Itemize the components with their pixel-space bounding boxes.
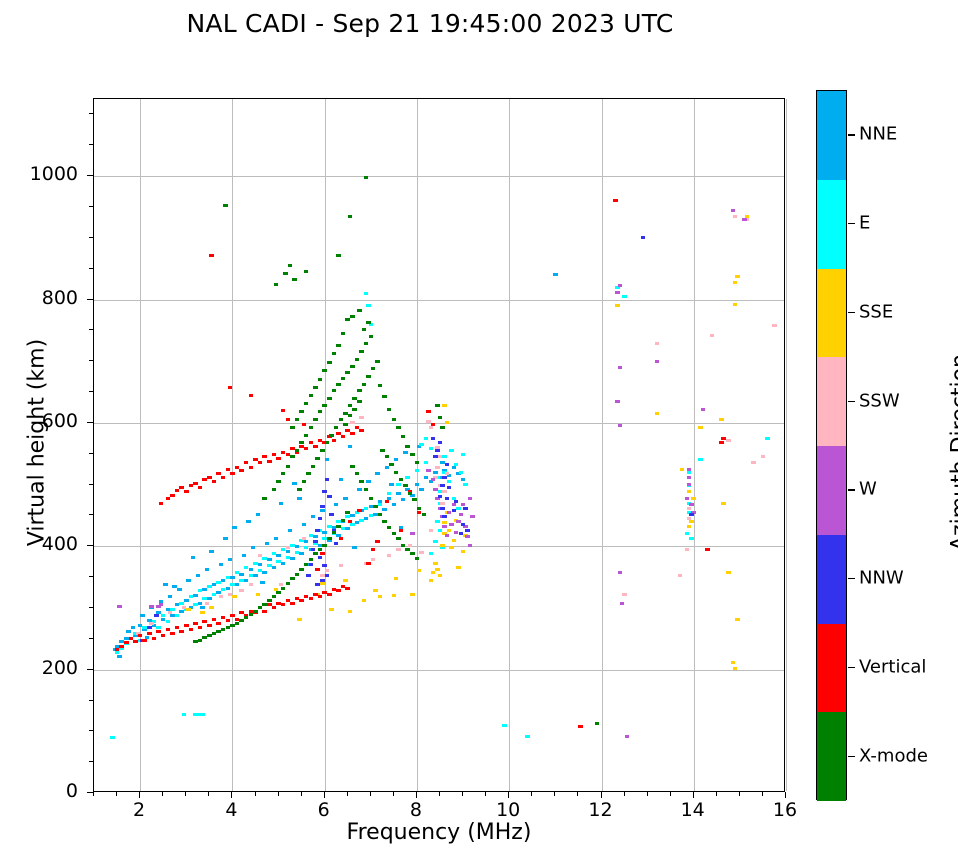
data-point-w [470, 515, 475, 518]
data-point-vertical [209, 254, 214, 257]
data-point-ssw [438, 455, 443, 458]
x-tick-label: 12 [571, 799, 631, 821]
data-point-ssw [429, 426, 434, 429]
data-point-e [161, 614, 166, 617]
data-point-vertical [276, 457, 281, 460]
x-tick-major [324, 792, 325, 798]
y-tick-minor [89, 576, 93, 577]
data-point-x-mode [357, 389, 362, 392]
data-point-sse [691, 497, 696, 500]
data-point-sse [320, 582, 325, 585]
data-point-w [731, 209, 736, 212]
data-point-w [655, 360, 660, 363]
x-tick-minor [185, 792, 186, 796]
data-point-sse [438, 574, 443, 577]
data-point-x-mode [193, 640, 198, 643]
data-point-x-mode [362, 328, 367, 331]
data-point-x-mode [438, 416, 443, 419]
data-point-x-mode [274, 283, 279, 286]
data-point-x-mode [239, 619, 244, 622]
data-point-e [267, 564, 272, 567]
data-point-vertical [161, 634, 166, 637]
data-point-e [198, 589, 203, 592]
data-point-x-mode [281, 472, 286, 475]
data-point-e [435, 520, 440, 523]
data-point-x-mode [387, 526, 392, 529]
data-point-e [286, 556, 291, 559]
data-point-nne [228, 558, 233, 561]
data-point-vertical [249, 466, 254, 469]
data-point-nne [246, 520, 251, 523]
data-point-e [405, 476, 410, 479]
data-point-e [166, 620, 171, 623]
data-point-nne [387, 497, 392, 500]
data-point-e [345, 515, 350, 518]
data-point-vertical [170, 632, 175, 635]
data-point-x-mode [350, 365, 355, 368]
data-point-x-mode [322, 369, 327, 372]
data-point-nnw [641, 236, 646, 239]
data-point-x-mode [385, 455, 390, 458]
data-point-vertical [327, 593, 332, 596]
data-point-x-mode [313, 418, 318, 421]
data-point-x-mode [350, 315, 355, 318]
data-point-x-mode [380, 449, 385, 452]
data-point-sse [410, 593, 415, 596]
y-tick-minor [89, 484, 93, 485]
data-point-x-mode [362, 383, 367, 386]
data-point-x-mode [223, 204, 228, 207]
data-point-vertical [170, 494, 175, 497]
data-point-nne [216, 591, 221, 594]
data-point-x-mode [355, 358, 360, 361]
data-point-ssw [751, 461, 756, 464]
data-point-nnw [445, 497, 450, 500]
data-point-sse [417, 569, 422, 572]
data-point-x-mode [318, 548, 323, 551]
y-tick-minor [89, 761, 93, 762]
data-point-nne [226, 587, 231, 590]
data-point-x-mode [382, 395, 387, 398]
data-point-vertical [339, 537, 344, 540]
data-point-x-mode [315, 457, 320, 460]
data-point-nnw [465, 529, 470, 532]
data-point-ssw [339, 564, 344, 567]
data-point-x-mode [283, 272, 288, 275]
data-point-x-mode [304, 402, 309, 405]
data-point-e [290, 544, 295, 547]
data-point-nnw [306, 574, 311, 577]
data-point-nne [163, 583, 168, 586]
data-point-vertical [309, 597, 314, 600]
data-point-x-mode [334, 426, 339, 429]
data-point-nne [403, 451, 408, 454]
data-point-x-mode [299, 568, 304, 571]
data-point-sse [200, 611, 205, 614]
data-point-x-mode [309, 426, 314, 429]
data-point-nne [131, 626, 136, 629]
data-point-x-mode [272, 595, 277, 598]
data-point-ssw [435, 466, 440, 469]
data-point-e [239, 579, 244, 582]
data-point-vertical [193, 482, 198, 485]
data-point-nne [172, 585, 177, 588]
data-point-e [502, 724, 507, 727]
data-point-sse [435, 568, 440, 571]
data-point-vertical [202, 620, 207, 623]
data-point-ssw [419, 551, 424, 554]
data-point-w [431, 478, 436, 481]
y-tick-major [87, 299, 93, 300]
data-point-x-mode [415, 557, 420, 560]
data-point-nnw [315, 583, 320, 586]
data-point-e [327, 525, 332, 528]
data-point-e [175, 614, 180, 617]
x-tick-label: 10 [478, 799, 538, 821]
x-tick-minor [624, 792, 625, 796]
data-point-nne [302, 523, 307, 526]
data-point-nnw [329, 513, 334, 516]
x-tick-major [231, 792, 232, 798]
data-point-vertical [332, 439, 337, 442]
data-point-x-mode [235, 622, 240, 625]
data-point-e [366, 304, 371, 307]
data-point-nne [348, 445, 353, 448]
data-point-ssw [685, 548, 690, 551]
data-point-nnw [442, 476, 447, 479]
data-point-w [449, 523, 454, 526]
data-point-x-mode [304, 270, 309, 273]
x-tick-minor [301, 792, 302, 796]
data-point-x-mode [262, 497, 267, 500]
data-point-nne [357, 488, 362, 491]
colorbar-tick [848, 489, 855, 490]
data-point-sse [442, 404, 447, 407]
data-point-vertical [262, 455, 267, 458]
data-point-sse [392, 594, 397, 597]
data-point-ssw [249, 583, 254, 586]
data-point-w [689, 503, 694, 506]
data-point-x-mode [327, 537, 332, 540]
data-point-vertical [179, 486, 184, 489]
data-point-vertical [230, 614, 235, 617]
data-point-x-mode [410, 552, 415, 555]
data-point-e [249, 574, 254, 577]
x-tick-minor [531, 792, 532, 796]
data-point-vertical [302, 423, 307, 426]
data-point-w [687, 468, 692, 471]
data-point-vertical [142, 639, 147, 642]
data-point-vertical [179, 630, 184, 633]
data-point-w [618, 284, 623, 287]
y-tick-minor [89, 360, 93, 361]
data-point-sse [726, 571, 731, 574]
x-tick-minor [762, 792, 763, 796]
colorbar-tick [848, 134, 855, 135]
data-point-x-mode [325, 441, 330, 444]
data-point-vertical [721, 437, 726, 440]
x-tick-label: 4 [201, 799, 261, 821]
data-point-x-mode [373, 505, 378, 508]
data-point-nne [205, 568, 210, 571]
data-point-nne [256, 513, 261, 516]
data-point-sse [687, 490, 692, 493]
data-point-nne [396, 492, 401, 495]
data-point-x-mode [410, 453, 415, 456]
page-title: NAL CADI - Sep 21 19:45:00 2023 UTC [0, 9, 860, 38]
data-point-ssw [258, 554, 263, 557]
data-point-sse [655, 412, 660, 415]
data-point-x-mode [286, 465, 291, 468]
y-tick-minor [89, 730, 93, 731]
colorbar-label-e: E [859, 213, 870, 234]
data-point-w [149, 605, 154, 608]
data-point-nne [364, 517, 369, 520]
y-tick-minor [89, 638, 93, 639]
data-point-nne [140, 614, 145, 617]
data-point-nne [322, 531, 327, 534]
data-point-nne [334, 503, 339, 506]
data-point-nne [177, 588, 182, 591]
data-point-x-mode [299, 410, 304, 413]
x-tick-major [508, 792, 509, 798]
data-point-sse [721, 502, 726, 505]
data-point-nne [320, 509, 325, 512]
data-point-e [364, 507, 369, 510]
data-point-vertical [175, 626, 180, 629]
data-point-x-mode [366, 375, 371, 378]
x-tick-minor [162, 792, 163, 796]
data-point-x-mode [341, 519, 346, 522]
colorbar-segment-x-mode [817, 712, 846, 801]
data-point-ssw [239, 589, 244, 592]
data-point-w [618, 424, 623, 427]
data-point-vertical [207, 624, 212, 627]
data-point-x-mode [313, 552, 318, 555]
colorbar [816, 90, 847, 800]
data-point-x-mode [371, 367, 376, 370]
data-point-vertical [299, 599, 304, 602]
data-point-x-mode [378, 513, 383, 516]
x-tick-minor [255, 792, 256, 796]
data-point-e [364, 292, 369, 295]
data-point-vertical [262, 610, 267, 613]
data-point-x-mode [348, 414, 353, 417]
data-point-sse [698, 426, 703, 429]
data-point-x-mode [329, 434, 334, 437]
data-point-x-mode [417, 507, 422, 510]
data-point-x-mode [345, 371, 350, 374]
data-point-vertical [115, 648, 120, 651]
colorbar-label-sse: SSE [859, 301, 893, 322]
data-point-nne [366, 480, 371, 483]
data-point-x-mode [392, 532, 397, 535]
data-point-vertical [184, 490, 189, 493]
data-point-e [415, 469, 420, 472]
data-point-e [424, 437, 429, 440]
data-point-vertical [212, 618, 217, 621]
data-point-nne [244, 579, 249, 582]
data-point-vertical [228, 386, 233, 389]
data-point-vertical [719, 441, 724, 444]
data-point-sse [431, 571, 436, 574]
y-tick-major [87, 792, 93, 793]
data-point-x-mode [281, 587, 286, 590]
data-point-x-mode [387, 408, 392, 411]
data-point-vertical [124, 641, 129, 644]
data-point-x-mode [396, 537, 401, 540]
data-point-nnw [309, 563, 314, 566]
data-point-vertical [272, 606, 277, 609]
data-point-vertical [281, 603, 286, 606]
data-point-x-mode [339, 418, 344, 421]
data-point-e [341, 527, 346, 530]
data-point-ssw [350, 421, 355, 424]
data-point-nnw [459, 532, 464, 535]
data-point-x-mode [309, 394, 314, 397]
data-point-w [159, 603, 164, 606]
data-point-ssw [687, 517, 692, 520]
data-point-x-mode [435, 404, 440, 407]
data-point-nne [290, 557, 295, 560]
x-tick-label: 8 [386, 799, 446, 821]
colorbar-tick [848, 401, 855, 402]
data-point-e [193, 603, 198, 606]
data-point-sse [733, 667, 738, 670]
data-point-nnw [313, 540, 318, 543]
data-point-x-mode [364, 342, 369, 345]
data-point-sse [440, 544, 445, 547]
data-point-x-mode [267, 599, 272, 602]
data-point-nne [168, 595, 173, 598]
y-tick-minor [89, 329, 93, 330]
x-tick-minor [739, 792, 740, 796]
x-tick-minor [116, 792, 117, 796]
data-point-vertical [341, 435, 346, 438]
data-point-nne [221, 579, 226, 582]
data-point-vertical [426, 410, 431, 413]
data-point-x-mode [297, 488, 302, 491]
data-point-nne [375, 472, 380, 475]
y-tick-label: 1000 [18, 163, 78, 185]
data-point-ssw [149, 622, 154, 625]
data-point-e [304, 546, 309, 549]
data-point-x-mode [327, 361, 332, 364]
y-tick-minor [89, 391, 93, 392]
data-point-e [272, 552, 277, 555]
data-point-nne [249, 568, 254, 571]
data-point-nne [415, 483, 420, 486]
data-point-vertical [359, 429, 364, 432]
data-point-nne [209, 550, 214, 553]
data-point-x-mode [364, 488, 369, 491]
y-tick-minor [89, 453, 93, 454]
data-point-vertical [159, 502, 164, 505]
data-point-w [615, 400, 620, 403]
data-point-nne [401, 498, 406, 501]
data-point-x-mode [318, 410, 323, 413]
data-point-x-mode [399, 478, 404, 481]
data-point-w [687, 483, 692, 486]
data-point-x-mode [295, 449, 300, 452]
colorbar-tick [848, 223, 855, 224]
data-point-e [216, 581, 221, 584]
data-point-x-mode [415, 461, 420, 464]
data-point-nne [313, 535, 318, 538]
data-point-x-mode [396, 426, 401, 429]
data-point-e [378, 503, 383, 506]
data-point-sse [447, 529, 452, 532]
x-tick-minor [208, 792, 209, 796]
data-point-nne [223, 537, 228, 540]
data-point-nnw [435, 449, 440, 452]
data-point-vertical [198, 486, 203, 489]
data-point-e [309, 534, 314, 537]
data-point-x-mode [350, 465, 355, 468]
data-point-vertical [385, 500, 390, 503]
data-point-nnw [322, 564, 327, 567]
data-point-nne [253, 574, 258, 577]
data-point-e [622, 295, 627, 298]
data-point-ssw [371, 558, 376, 561]
data-point-w [620, 602, 625, 605]
x-tick-minor [554, 792, 555, 796]
x-tick-minor [462, 792, 463, 796]
y-tick-minor [89, 206, 93, 207]
data-point-sse [735, 618, 740, 621]
data-point-ssw [710, 334, 715, 337]
data-point-vertical [272, 453, 277, 456]
data-point-vertical [235, 466, 240, 469]
data-point-sse [735, 275, 740, 278]
data-point-e [454, 463, 459, 466]
data-point-vertical [119, 645, 124, 648]
data-point-e [525, 735, 530, 738]
data-point-x-mode [286, 582, 291, 585]
data-point-nne [461, 478, 466, 481]
data-point-e [156, 626, 161, 629]
x-tick-minor [647, 792, 648, 796]
data-point-vertical [226, 619, 231, 622]
data-point-x-mode [336, 383, 341, 386]
data-point-x-mode [369, 497, 374, 500]
data-point-nne [382, 508, 387, 511]
data-point-vertical [212, 480, 217, 483]
data-point-x-mode [357, 309, 362, 312]
y-tick-minor [89, 607, 93, 608]
data-point-w [618, 571, 623, 574]
data-point-ssw [733, 215, 738, 218]
data-point-nnw [320, 579, 325, 582]
x-tick-minor [439, 792, 440, 796]
data-point-x-mode [341, 332, 346, 335]
data-point-vertical [166, 628, 171, 631]
data-point-nnw [440, 507, 445, 510]
x-tick-major [416, 792, 417, 798]
data-point-x-mode [378, 384, 383, 387]
data-point-nne [235, 583, 240, 586]
data-point-nne [433, 471, 438, 474]
x-tick-minor [93, 792, 94, 796]
data-point-w [459, 513, 464, 516]
data-point-vertical [366, 562, 371, 565]
data-point-ssw [687, 507, 692, 510]
data-point-vertical [175, 489, 180, 492]
y-tick-minor [89, 113, 93, 114]
data-point-x-mode [306, 472, 311, 475]
data-point-e [689, 537, 694, 540]
data-point-nne [232, 526, 237, 529]
